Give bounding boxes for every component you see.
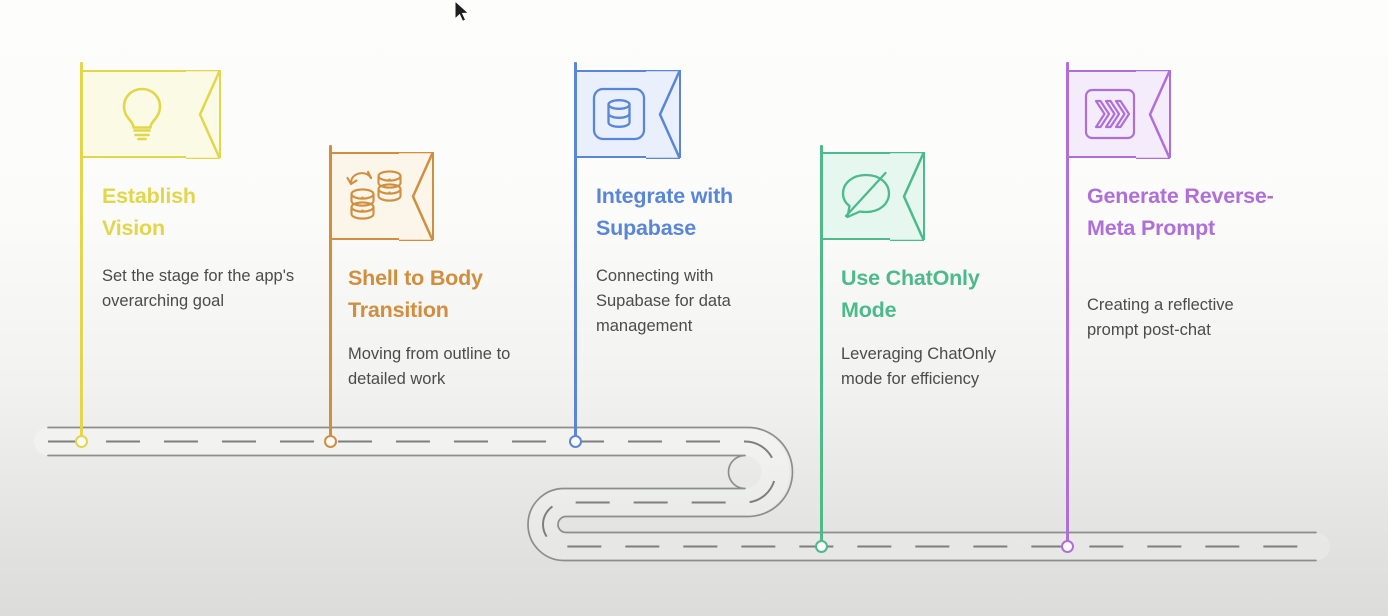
milestone-title: Shell to Body Transition <box>348 262 533 326</box>
milestone-road-marker[interactable] <box>815 540 828 553</box>
milestone-title: Integrate with Supabase <box>596 180 786 244</box>
no-chat-icon <box>835 167 897 225</box>
milestone-description: Leveraging ChatOnly mode for efficiency <box>841 342 1041 392</box>
lightbulb-icon <box>115 84 169 144</box>
milestone-road-marker[interactable] <box>75 435 88 448</box>
milestone-description: Creating a reflective prompt post-chat <box>1087 293 1287 343</box>
milestone-description: Moving from outline to detailed work <box>348 342 548 392</box>
milestone-title: Establish Vision <box>102 180 262 244</box>
triple-chevron-icon <box>1082 86 1138 142</box>
flag-notch <box>646 70 680 159</box>
milestone-description: Connecting with Supabase for data manage… <box>596 264 781 339</box>
database-migration-icon <box>345 166 407 226</box>
milestone-flag <box>81 70 221 158</box>
milestone-road-marker[interactable] <box>1061 540 1074 553</box>
milestone-road-marker[interactable] <box>569 435 582 448</box>
database-icon <box>590 85 648 143</box>
roadmap-diagram: Establish Vision Set the stage for the a… <box>0 0 1388 616</box>
milestone-flag <box>821 152 925 240</box>
flag-notch <box>186 70 220 159</box>
milestone-title: Use ChatOnly Mode <box>841 262 1026 326</box>
milestone-flag <box>1067 70 1171 158</box>
milestone-flag <box>575 70 681 158</box>
flag-notch <box>1136 70 1170 159</box>
milestone-road-marker[interactable] <box>324 435 337 448</box>
milestone-description: Set the stage for the app's overarching … <box>102 264 302 314</box>
milestone-title: Generate Reverse-Meta Prompt <box>1087 180 1287 244</box>
milestone-flag <box>330 152 434 240</box>
